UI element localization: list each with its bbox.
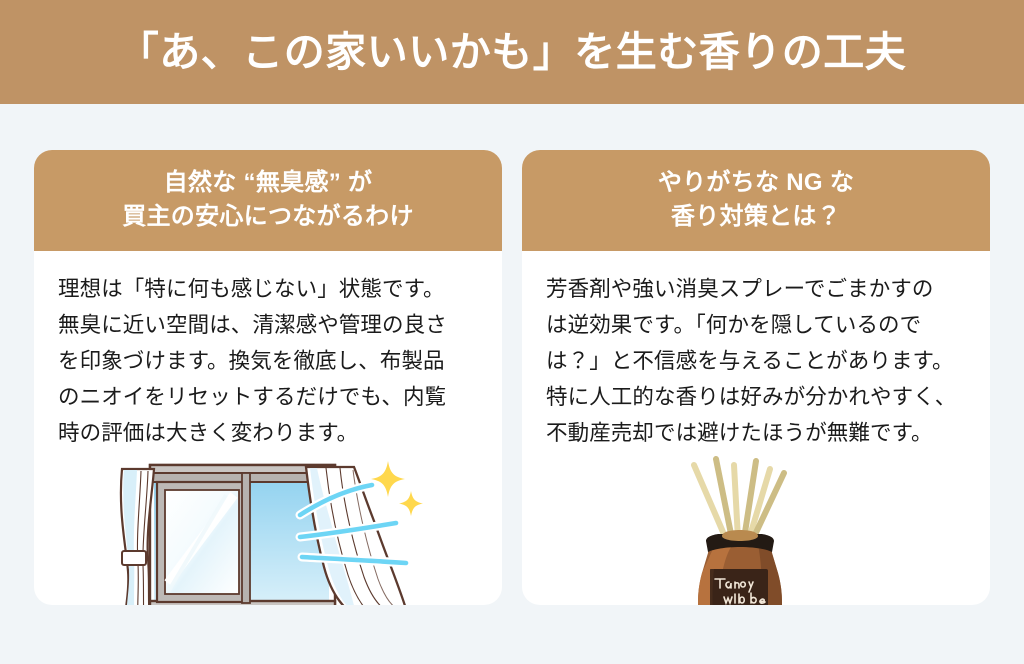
card-odorless: 自然な “無臭感” が 買主の安心につながるわけ 理想は「特に何も感じない」状態… (34, 150, 502, 605)
card-odorless-illustration-area (34, 451, 502, 605)
card-ng-fragrance-illustration-area (522, 451, 990, 605)
card-odorless-body-line-1: 理想は「特に何も感じない」状態です。 (58, 271, 478, 307)
card-ng-fragrance-body-line-5: 不動産売却では避けたほうが無難です。 (546, 415, 966, 451)
card-odorless-header: 自然な “無臭感” が 買主の安心につながるわけ (34, 150, 502, 251)
curtain-left-icon (121, 469, 154, 605)
page-header-band: 「あ、この家いいかも」を生む香りの工夫 (0, 0, 1024, 104)
card-ng-fragrance-body-line-1: 芳香剤や強い消臭スプレーでごまかすの (546, 271, 966, 307)
card-odorless-body-line-4: のニオイをリセットするだけでも、内覧 (58, 379, 478, 415)
card-odorless-body-line-5: 時の評価は大きく変わります。 (58, 415, 478, 451)
card-odorless-heading-line-2: 買主の安心につながるわけ (46, 200, 490, 234)
card-ng-fragrance-heading-line-2: 香り対策とは？ (534, 200, 978, 234)
card-ng-fragrance-header: やりがちな NG な 香り対策とは？ (522, 150, 990, 251)
card-ng-fragrance-body-line-2: は逆効果です。「何かを隠しているので (546, 307, 966, 343)
card-ng-fragrance: やりがちな NG な 香り対策とは？ 芳香剤や強い消臭スプレーでごまかすの は逆… (522, 150, 990, 605)
sparkle-icon (371, 461, 423, 516)
card-ng-fragrance-body-line-4: 特に人工的な香りは好みが分かれやすく、 (546, 379, 966, 415)
card-odorless-body-line-2: 無臭に近い空間は、清潔感や管理の良さ (58, 307, 478, 343)
card-odorless-body-line-3: を印象づけます。換気を徹底し、布製品 (58, 343, 478, 379)
cards-container: 自然な “無臭感” が 買主の安心につながるわけ 理想は「特に何も感じない」状態… (0, 104, 1024, 664)
card-ng-fragrance-body-line-3: は？」と不信感を与えることがあります。 (546, 343, 966, 379)
page-title: 「あ、この家いいかも」を生む香りの工夫 (118, 32, 907, 73)
card-odorless-heading-line-1: 自然な “無臭感” が (46, 166, 490, 200)
open-window-with-curtains-icon (110, 451, 440, 605)
card-ng-fragrance-heading-line-1: やりがちな NG な (534, 166, 978, 200)
diffuser-reeds-icon (694, 459, 784, 539)
card-odorless-body: 理想は「特に何も感じない」状態です。 無臭に近い空間は、清潔感や管理の良さ を印… (34, 251, 502, 451)
reed-diffuser-icon (652, 451, 832, 605)
card-ng-fragrance-body: 芳香剤や強い消臭スプレーでごまかすの は逆効果です。「何かを隠しているので は？… (522, 251, 990, 451)
